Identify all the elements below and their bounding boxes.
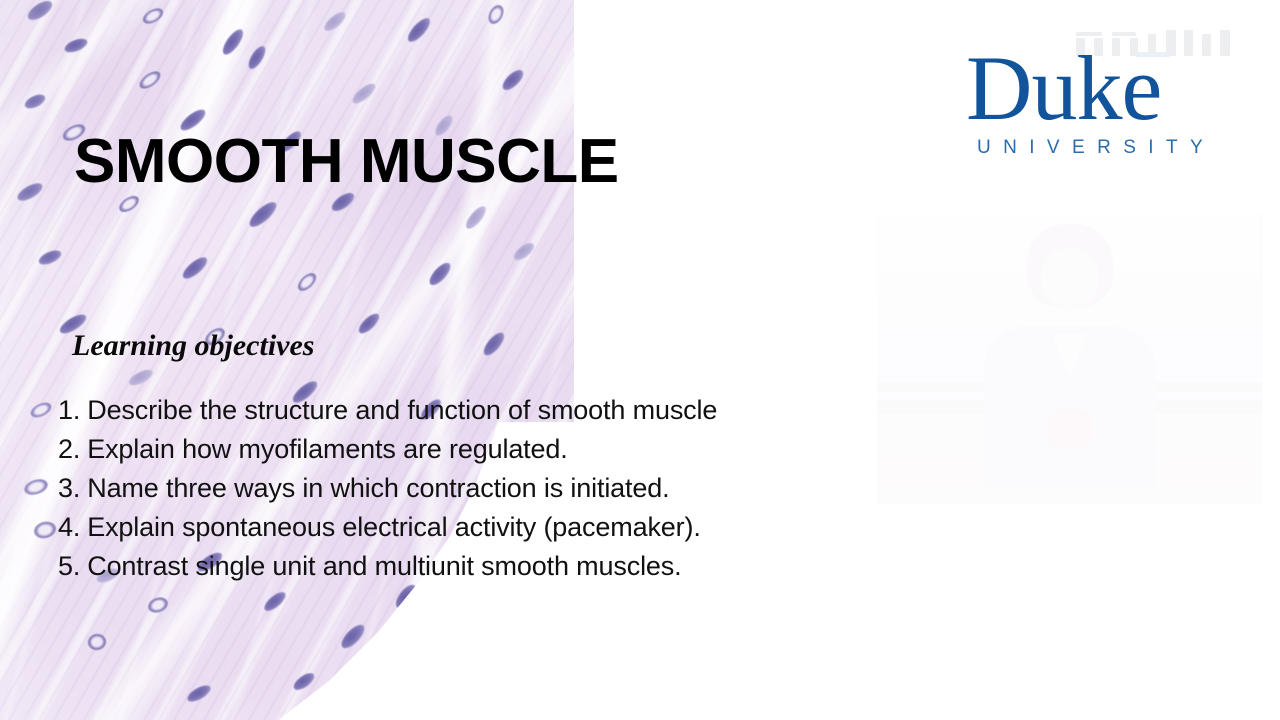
nucleus [262, 589, 289, 614]
nucleus [219, 26, 246, 57]
page-title: SMOOTH MUSCLE [74, 131, 619, 193]
nucleus [463, 203, 489, 232]
nucleus [87, 633, 108, 652]
nucleus [23, 92, 48, 112]
video-desk-surface [877, 488, 1262, 504]
nucleus [140, 5, 165, 26]
list-item-text: Describe the structure and function of s… [87, 395, 717, 425]
duke-wordmark: Duke [966, 42, 1161, 134]
list-item-number: 2. [58, 434, 80, 464]
nucleus [127, 367, 155, 389]
list-item-text: Explain spontaneous electrical activity … [87, 512, 701, 542]
list-item: 4.Explain spontaneous electrical activit… [58, 508, 848, 547]
nucleus [291, 670, 317, 693]
video-right-edge [1260, 214, 1262, 504]
nucleus [499, 67, 526, 94]
duke-subwordmark: UNIVERSITY [977, 138, 1215, 157]
list-item-number: 5. [58, 551, 80, 581]
watermark-mark [1076, 32, 1102, 36]
list-item: 5.Contrast single unit and multiunit smo… [58, 547, 848, 586]
list-item-number: 1. [58, 395, 80, 425]
nucleus [405, 15, 434, 45]
nucleus [28, 400, 53, 420]
list-item-number: 4. [58, 512, 80, 542]
list-item-text: Explain how myofilaments are regulated. [87, 434, 567, 464]
learning-objectives-list: 1.Describe the structure and function of… [58, 391, 848, 586]
presenter-hands [1048, 410, 1092, 448]
list-item-number: 3. [58, 473, 80, 503]
nucleus [137, 68, 163, 92]
nucleus [22, 477, 49, 498]
list-item: 3.Name three ways in which contraction i… [58, 469, 848, 508]
nucleus [511, 240, 537, 263]
watermark-mark [1112, 32, 1136, 36]
nucleus [117, 193, 142, 215]
nucleus [63, 36, 89, 55]
learning-objectives-heading: Learning objectives [72, 329, 314, 363]
nucleus [246, 198, 280, 230]
duke-university-logo: Duke UNIVERSITY [966, 52, 1228, 168]
nucleus [426, 260, 454, 289]
video-left-edge [877, 214, 879, 504]
list-item-text: Contrast single unit and multiunit smoot… [87, 551, 681, 581]
nucleus [295, 270, 319, 294]
nucleus [486, 3, 507, 27]
nucleus [245, 44, 268, 72]
nucleus [356, 311, 382, 337]
list-item-text: Name three ways in which contraction is … [87, 473, 669, 503]
presenter-silhouette [970, 214, 1170, 504]
presenter-video-overlay[interactable] [877, 214, 1262, 504]
nucleus [350, 80, 379, 106]
nucleus [37, 248, 63, 268]
lecture-slide: SMOOTH MUSCLE Learning objectives 1.Desc… [0, 0, 1280, 720]
nucleus [322, 9, 349, 34]
nucleus [15, 180, 45, 204]
nucleus [180, 254, 211, 282]
presenter-face [1041, 248, 1099, 310]
nucleus [32, 520, 57, 541]
nucleus [146, 595, 170, 615]
list-item: 2.Explain how myofilaments are regulated… [58, 430, 848, 469]
nucleus [25, 0, 55, 24]
nucleus [185, 682, 213, 705]
nucleus [480, 329, 507, 358]
list-item: 1.Describe the structure and function of… [58, 391, 848, 430]
